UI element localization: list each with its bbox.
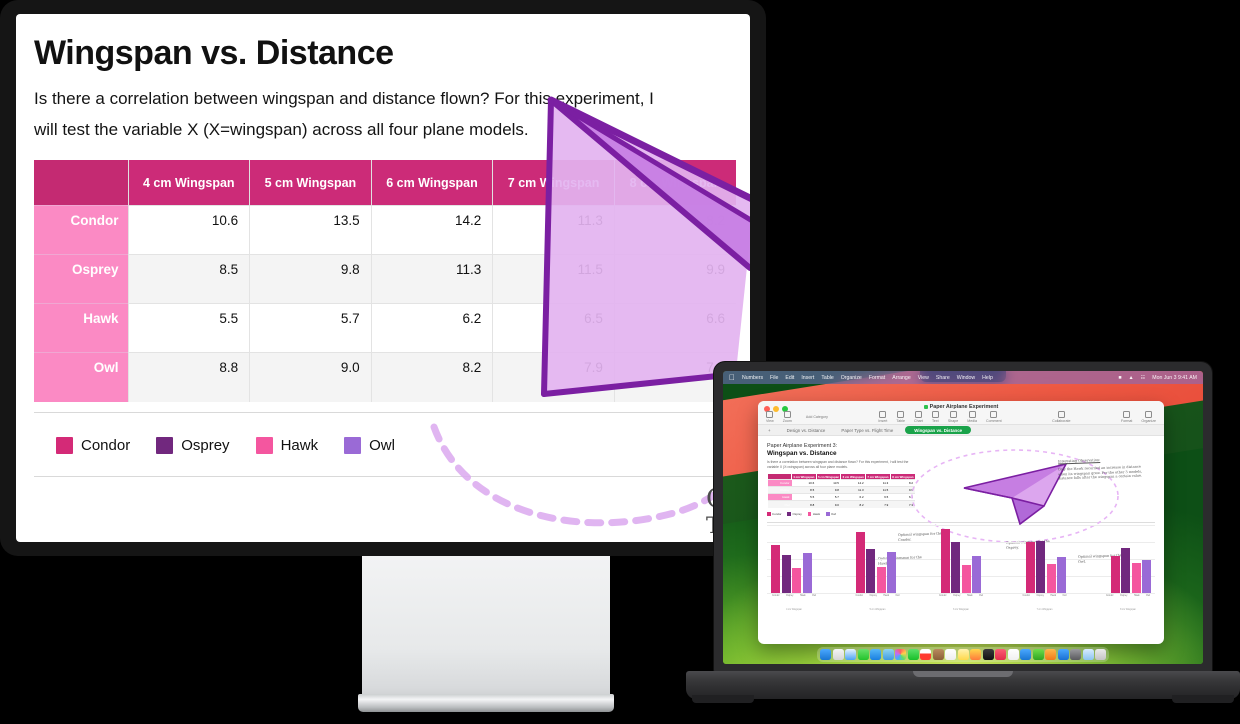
mini-row-header: Condor [768,480,792,487]
table-row-header: Condor [34,206,128,255]
news-icon[interactable] [1008,649,1019,660]
x-tick: Condor [1106,595,1114,597]
table-cell: 6.5 [493,304,615,353]
mini-row: Condor 10.6 13.5 14.2 11.3 8.2 [768,480,916,487]
legend-item-owl: Owl [344,437,395,454]
x-group-title: 6 cm Wingspan [953,609,969,611]
menu-item-file[interactable]: File [770,375,778,381]
table-row-header: Hawk [34,304,128,353]
bar-condor [771,545,780,593]
chart-x-axis: Condor Osprey Hawk Owl 4 cm Wingspan [767,595,1155,615]
trash-icon[interactable] [1095,649,1106,660]
mini-legend-item-owl: Owl [826,512,836,516]
presentation-slide: Wingspan vs. Distance Is there a correla… [16,14,750,542]
menu-item-view[interactable]: View [918,375,929,381]
chart-icon [915,411,922,418]
battery-icon[interactable]: ■ [1118,375,1121,381]
legend-swatch-icon [826,512,830,516]
legend-swatch-icon [344,437,361,454]
table-cell: 6.2 [371,304,493,353]
table-cell: 8.2 [371,353,493,402]
bar-osprey [951,542,960,593]
table-cell: 8.2 [614,206,736,255]
contacts-icon[interactable] [933,649,944,660]
menu-item-numbers[interactable]: Numbers [742,375,763,381]
x-group-label: Condor Osprey Hawk Owl 6 cm Wingspan [938,595,984,615]
table-cell: 5.5 [128,304,250,353]
mini-cell: 11.3 [841,487,866,494]
tab-wingspan-vs-distance[interactable]: Wingspan vs. Distance [905,426,971,434]
tab-paper-type-vs-flight-time[interactable]: Paper Type vs. Flight Time [837,427,897,434]
table-cell: 13.5 [250,206,372,255]
macos-dock[interactable] [817,647,1109,662]
legend-label: Hawk [813,512,820,516]
sheet-canvas[interactable]: Paper Airplane Experiment 3: Wingspan vs… [758,436,1164,644]
legend-item-condor: Condor [56,437,130,454]
table-cell: 6.6 [614,304,736,353]
bar-group-6cm [941,529,982,593]
mini-cell: 9.8 [816,487,841,494]
table-row: Condor 10.6 13.5 14.2 11.3 8.2 [34,206,736,255]
mini-cell: 9.0 [816,501,841,508]
notes-icon[interactable] [958,649,969,660]
menu-item-insert[interactable]: Insert [801,375,814,381]
launchpad-icon[interactable] [833,649,844,660]
table-cell: 10.6 [128,206,250,255]
media-icon [969,411,976,418]
organize-icon [1145,411,1152,418]
bar-condor [856,532,865,593]
maps-icon[interactable] [883,649,894,660]
toolbar-shape-button[interactable]: Shape [948,411,958,423]
tab-design-vs-distance[interactable]: Design vs. Distance [783,427,830,434]
mini-cell: 13.5 [816,480,841,487]
x-group-title: 8 cm Wingspan [1120,609,1136,611]
x-tick: Hawk [1050,595,1056,597]
toolbar-text-button[interactable]: Text [932,411,939,423]
appstore-icon[interactable] [1058,649,1069,660]
table-row-header: Osprey [34,255,128,304]
numbers-icon[interactable] [1033,649,1044,660]
bar-group-7cm [1026,541,1067,593]
freeform-icon[interactable] [970,649,981,660]
x-tick: Owl [896,595,900,597]
mini-cell: 6.5 [866,494,891,501]
mini-cell: 5.5 [792,494,817,501]
legend-label: Condor [81,437,130,454]
menubar-clock[interactable]: Mon Jun 3 9:41 AM [1152,375,1197,381]
preview-icon[interactable] [1083,649,1094,660]
legend-label: Condor [772,512,781,516]
mini-legend-item-condor: Condor [767,512,781,516]
insert-icon [879,411,886,418]
mini-row-header: Osprey [768,487,792,494]
table-icon [897,411,904,418]
display-stand [362,556,610,706]
table-column-header: 4 cm Wingspan [128,160,250,206]
reminders-icon[interactable] [945,649,956,660]
table-cell: 8.8 [128,353,250,402]
display-screen: Wingspan vs. Distance Is there a correla… [16,14,750,542]
calendar-icon[interactable] [920,649,931,660]
x-tick: Owl [1063,595,1067,597]
divider-rule [34,412,736,413]
x-tick: Osprey [1120,595,1127,597]
x-group-label: Condor Osprey Hawk Owl 8 cm Wingspan [1105,595,1151,615]
bar-owl [803,553,812,593]
macbook-foot-left [692,695,754,703]
x-tick: Owl [979,595,983,597]
text-icon [932,411,939,418]
mini-cell: 6.2 [841,494,866,501]
slide-body-text: Is there a correlation between wingspan … [34,83,674,146]
legend-item-osprey: Osprey [156,437,229,454]
x-tick: Condor [939,595,947,597]
x-tick: Hawk [967,595,973,597]
macos-desktop:  Numbers File Edit Insert Table Organiz… [723,371,1203,664]
numbers-window[interactable]: Paper Airplane Experiment View Zoom [758,401,1164,644]
table-cell: 11.5 [493,255,615,304]
mini-cell: 7.9 [866,501,891,508]
x-group-title: 4 cm Wingspan [786,609,802,611]
keynote-icon[interactable] [1020,649,1031,660]
toolbar-label: Zoom [783,419,792,423]
mini-cell: 8.8 [792,501,817,508]
legend-item-hawk: Hawk [256,437,319,454]
doc-paragraph: Is there a correlation between wingspan … [767,460,917,470]
mini-cell: 5.7 [816,494,841,501]
table-cell: 9.8 [250,255,372,304]
toolbar-table-button[interactable]: Table [896,411,905,423]
x-tick: Hawk [800,595,806,597]
toolbar-label: Media [967,419,977,423]
studio-display: Wingspan vs. Distance Is there a correla… [0,0,766,556]
legend-swatch-icon [767,512,771,516]
table-column-header: 6 cm Wingspan [371,160,493,206]
toolbar-label: Organize [1141,419,1156,423]
mini-legend-item-osprey: Osprey [787,512,801,516]
bar-osprey [782,555,791,593]
menu-item-window[interactable]: Window [957,375,975,381]
bar-hawk [1132,563,1141,593]
settings-icon[interactable] [1070,649,1081,660]
legend-label: Osprey [181,437,229,454]
doc-note-body: Only the Hawk recorded an increase in di… [1058,465,1142,482]
bar-chart[interactable]: Condor Osprey Hawk Owl 4 cm Wingspan [767,525,1155,607]
macbook-lid-notch [913,671,1013,677]
x-tick: Osprey [869,595,876,597]
shape-icon [950,411,957,418]
menu-item-organize[interactable]: Organize [841,375,862,381]
x-tick: Osprey [786,595,793,597]
view-icon [766,411,773,418]
music-icon[interactable] [995,649,1006,660]
bar-group-8cm [1111,548,1152,593]
window-title-bar: Paper Airplane Experiment [758,404,1164,410]
toolbar-label: View [766,419,774,423]
menu-item-format[interactable]: Format [869,375,885,381]
table-row: Owl 8.8 9.0 8.2 7.9 7.3 [34,353,736,402]
mini-cell: 11.3 [866,480,891,487]
toolbar-collaborate-button[interactable]: Collaborate [1052,411,1070,423]
bar-group-5cm [856,532,897,593]
facetime-icon[interactable] [908,649,919,660]
bar-hawk [962,565,971,593]
bar-owl [887,552,896,593]
toolbar-label: Insert [878,419,887,423]
x-tick: Owl [812,595,816,597]
toolbar-comment-button[interactable]: Comment [986,411,1002,423]
toolbar-insert-button[interactable]: Insert [878,411,887,423]
mini-cell: 10.6 [792,480,817,487]
x-group-label: Condor Osprey Hawk Owl 7 cm Wingspan [1022,595,1068,615]
mini-legend-item-hawk: Hawk [808,512,820,516]
bar-osprey [1036,541,1045,593]
toolbar-label: Collaborate [1052,419,1070,423]
x-tick: Hawk [883,595,889,597]
bar-osprey [866,549,875,593]
add-sheet-button[interactable]: + [764,427,775,434]
page-title: Wingspan vs. Distance [34,34,750,73]
table-header-row: 4 cm Wingspan 5 cm Wingspan 6 cm Wingspa… [34,160,736,206]
macbook-lid:  Numbers File Edit Insert Table Organiz… [714,362,1212,673]
toolbar-label: Table [896,419,905,423]
table-row-header: Owl [34,353,128,402]
x-group-title: 7 cm Wingspan [1037,609,1053,611]
toolbar-label: Shape [948,419,958,423]
bar-owl [972,556,981,593]
mini-cell: 11.5 [866,487,891,494]
legend-label: Owl [369,437,395,454]
bar-hawk [1047,564,1056,593]
wifi-icon[interactable]: ▲ [1129,375,1134,381]
x-tick: Condor [1023,595,1031,597]
bar-osprey [1121,548,1130,593]
finder-icon[interactable] [820,649,831,660]
toolbar-label: Text [932,419,939,423]
bar-owl [1142,560,1151,593]
table-cell: 9.0 [250,353,372,402]
toolbar-chart-button[interactable]: Chart [914,411,923,423]
mini-cell: 8.2 [841,501,866,508]
x-tick: Osprey [953,595,960,597]
table-cell: 8.5 [128,255,250,304]
apple-menu-icon[interactable]:  [729,373,735,382]
mini-data-table[interactable]: 4 cm Wingspan 5 cm Wingspan 6 cm Wingspa… [767,474,915,508]
x-tick: Condor [772,595,780,597]
menu-item-arrange[interactable]: Arrange [892,375,910,381]
macbook-foot-right [1172,695,1234,703]
x-group-label: Condor Osprey Hawk Owl 5 cm Wingspan [855,595,901,615]
table-cell: 11.3 [493,206,615,255]
legend-swatch-icon [787,512,791,516]
mini-row-header: Hawk [768,494,792,501]
toolbar-add-category-button[interactable]: Add Category [806,415,828,419]
control-center-icon[interactable]: ☷ [1141,375,1146,381]
safari-icon[interactable] [845,649,856,660]
bar-condor [941,529,950,593]
mail-icon[interactable] [870,649,881,660]
mini-cell: 14.2 [841,480,866,487]
appletv-icon[interactable] [983,649,994,660]
macbook-feet [686,695,1240,704]
gridline [767,525,1155,526]
mini-row: Osprey 8.5 9.8 11.3 11.5 9.9 [768,487,916,494]
x-tick: Hawk [1134,595,1140,597]
legend-label: Osprey [792,512,801,516]
legend-swatch-icon [256,437,273,454]
collaborate-icon [1058,411,1065,418]
table-column-header: 8 cm Wingspan [614,160,736,206]
toolbar-label: Add Category [806,415,828,419]
screenshot-stage: Wingspan vs. Distance Is there a correla… [0,0,1240,724]
toolbar-buttons: View Zoom Add Category [758,411,1164,423]
mini-row: Owl 8.8 9.0 8.2 7.9 7.3 [768,501,916,508]
window-toolbar: Paper Airplane Experiment View Zoom [758,401,1164,425]
mini-row-header: Owl [768,501,792,508]
toolbar-view-button[interactable]: View [766,411,774,423]
data-table: 4 cm Wingspan 5 cm Wingspan 6 cm Wingspa… [34,160,736,402]
bar-group-4cm [771,545,812,593]
bar-hawk [877,567,886,593]
x-tick: Condor [856,595,864,597]
photos-icon[interactable] [895,649,906,660]
macbook-pro:  Numbers File Edit Insert Table Organiz… [686,362,1240,724]
menu-item-help[interactable]: Help [982,375,993,381]
table-cell: 7.9 [493,353,615,402]
x-group-title: 5 cm Wingspan [870,609,886,611]
bar-hawk [792,568,801,593]
macos-menubar[interactable]:  Numbers File Edit Insert Table Organiz… [723,371,1203,384]
toolbar-label: Chart [914,419,923,423]
table-cell: 5.7 [250,304,372,353]
table-cell: 9.9 [614,255,736,304]
zoom-icon [784,411,791,418]
legend-swatch-icon [56,437,73,454]
messages-icon[interactable] [858,649,869,660]
bar-condor [1111,556,1120,593]
table-cell: 14.2 [371,206,493,255]
bar-condor [1026,542,1035,593]
x-tick: Osprey [1036,595,1043,597]
table-column-header: 7 cm Wingspan [493,160,615,206]
chart-plot-area [767,525,1155,593]
sheet-tab-bar[interactable]: + Design vs. Distance Paper Type vs. Fli… [758,425,1164,436]
legend-swatch-icon [156,437,173,454]
comment-icon [990,411,997,418]
legend-label: Owl [831,512,836,516]
numbers-app-icon [924,405,928,409]
legend-swatch-icon [808,512,812,516]
display-stand-foot [358,694,614,712]
format-icon [1123,411,1130,418]
table-corner-cell [34,160,128,206]
menu-item-edit[interactable]: Edit [785,375,794,381]
bar-owl [1057,557,1066,593]
table-cell: 11.3 [371,255,493,304]
toolbar-zoom-button[interactable]: Zoom [783,411,792,423]
x-group-label: Condor Osprey Hawk Owl 4 cm Wingspan [771,595,817,615]
menu-item-share[interactable]: Share [936,375,950,381]
menu-item-table[interactable]: Table [821,375,833,381]
toolbar-media-button[interactable]: Media [967,411,977,423]
table-row: Hawk 5.5 5.7 6.2 6.5 6.6 [34,304,736,353]
mini-row: Hawk 5.5 5.7 6.2 6.5 6.6 [768,494,916,501]
toolbar-label: Comment [986,419,1002,423]
x-tick: Owl [1146,595,1150,597]
toolbar-organize-button[interactable]: Organize [1141,411,1156,423]
table-column-header: 5 cm Wingspan [250,160,372,206]
toolbar-format-button[interactable]: Format [1121,411,1132,423]
legend-label: Hawk [281,437,319,454]
pages-icon[interactable] [1045,649,1056,660]
table-row: Osprey 8.5 9.8 11.3 11.5 9.9 [34,255,736,304]
macbook-screen:  Numbers File Edit Insert Table Organiz… [723,371,1203,664]
toolbar-label: Format [1121,419,1132,423]
mini-cell: 8.5 [792,487,817,494]
window-title: Paper Airplane Experiment [930,404,999,410]
